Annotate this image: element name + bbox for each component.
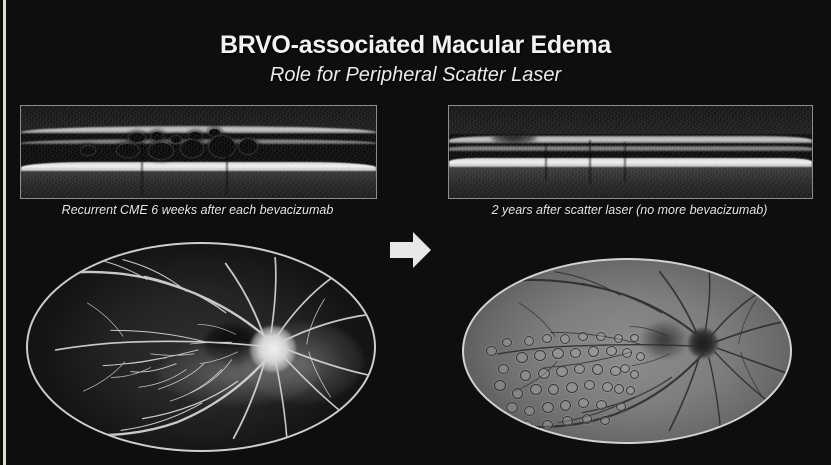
right-arrow-icon bbox=[386, 228, 434, 272]
slide-subtitle: Role for Peripheral Scatter Laser bbox=[0, 64, 831, 87]
red-free-fundus-after bbox=[462, 258, 792, 444]
oct-image-before bbox=[21, 106, 376, 198]
caption-after: 2 years after scatter laser (no more bev… bbox=[448, 203, 811, 217]
slide-canvas: BRVO-associated Macular Edema Role for P… bbox=[0, 0, 831, 465]
caption-before: Recurrent CME 6 weeks after each bevaciz… bbox=[20, 203, 375, 217]
oct-speckle-noise-before bbox=[21, 106, 376, 198]
oct-speckle-noise-after bbox=[449, 106, 812, 198]
optic-disc bbox=[250, 326, 296, 372]
laser-scar-field bbox=[464, 260, 790, 442]
oct-image-after bbox=[449, 106, 812, 198]
slide-title: BRVO-associated Macular Edema bbox=[0, 31, 831, 60]
oct-panel-before bbox=[20, 105, 377, 199]
oct-panel-after bbox=[448, 105, 813, 199]
fluorescein-angiogram-before bbox=[26, 242, 376, 452]
